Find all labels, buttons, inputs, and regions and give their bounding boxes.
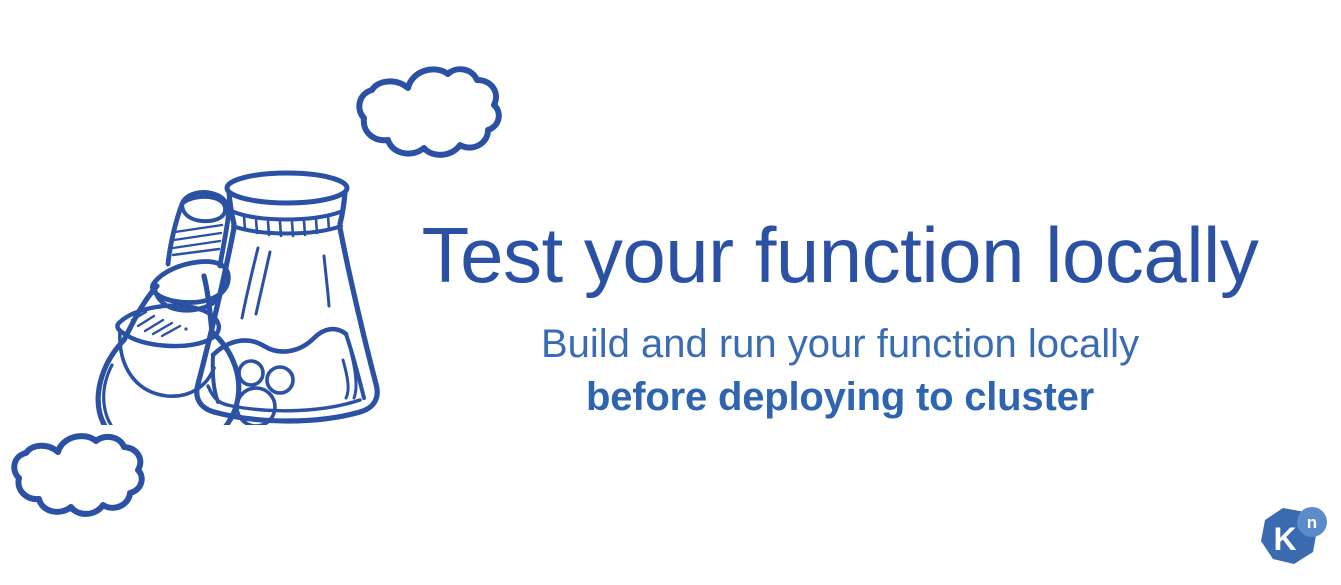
cloud-bottom: [8, 428, 150, 520]
subtitle-line-1: Build and run your function locally: [400, 318, 1280, 371]
cloud-top-icon: [352, 60, 504, 168]
laboratory-flasks-illustration: [62, 140, 392, 425]
subtitle-line-2: before deploying to cluster: [400, 371, 1280, 424]
flasks-svg: [62, 140, 392, 425]
slide-subtitle-group: Build and run your function locally befo…: [400, 318, 1280, 424]
knative-logo-svg: K n: [1254, 502, 1328, 574]
slide-text-block: Test your function locally Build and run…: [400, 215, 1280, 424]
logo-letter-n: n: [1307, 513, 1317, 532]
slide-canvas: Test your function locally Build and run…: [0, 0, 1341, 585]
page-title: Test your function locally: [400, 215, 1280, 296]
cloud-bottom-icon: [8, 428, 150, 520]
knative-logo: K n: [1254, 502, 1328, 574]
cloud-top: [352, 60, 504, 168]
logo-letter-k: K: [1273, 521, 1296, 557]
